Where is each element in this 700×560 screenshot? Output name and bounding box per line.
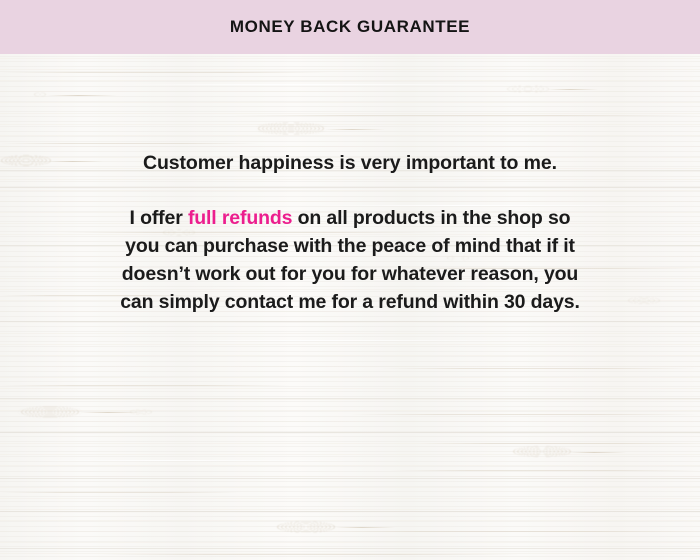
page-title: MONEY BACK GUARANTEE [230, 17, 470, 37]
text-run: I offer [130, 207, 188, 229]
text-run: you can purchase with the peace of mind … [125, 235, 575, 257]
content-area: Customer happiness is very important to … [0, 54, 700, 560]
guarantee-graphic: MONEY BACK GUARANTEE Customer happiness … [0, 0, 700, 560]
text-run: can simply contact me for a refund withi… [120, 291, 580, 313]
paragraph-line: I offer full refunds on all products in … [70, 204, 630, 232]
header-band: MONEY BACK GUARANTEE [0, 0, 700, 54]
lead-statement: Customer happiness is very important to … [0, 150, 700, 176]
guarantee-paragraph: I offer full refunds on all products in … [70, 204, 630, 316]
paragraph-line: can simply contact me for a refund withi… [70, 288, 630, 316]
text-run: on all products in the shop so [292, 207, 570, 229]
highlighted-phrase: full refunds [188, 207, 292, 229]
paragraph-line: you can purchase with the peace of mind … [70, 232, 630, 260]
paragraph-line: doesn’t work out for you for whatever re… [70, 260, 630, 288]
text-run: doesn’t work out for you for whatever re… [122, 263, 578, 285]
